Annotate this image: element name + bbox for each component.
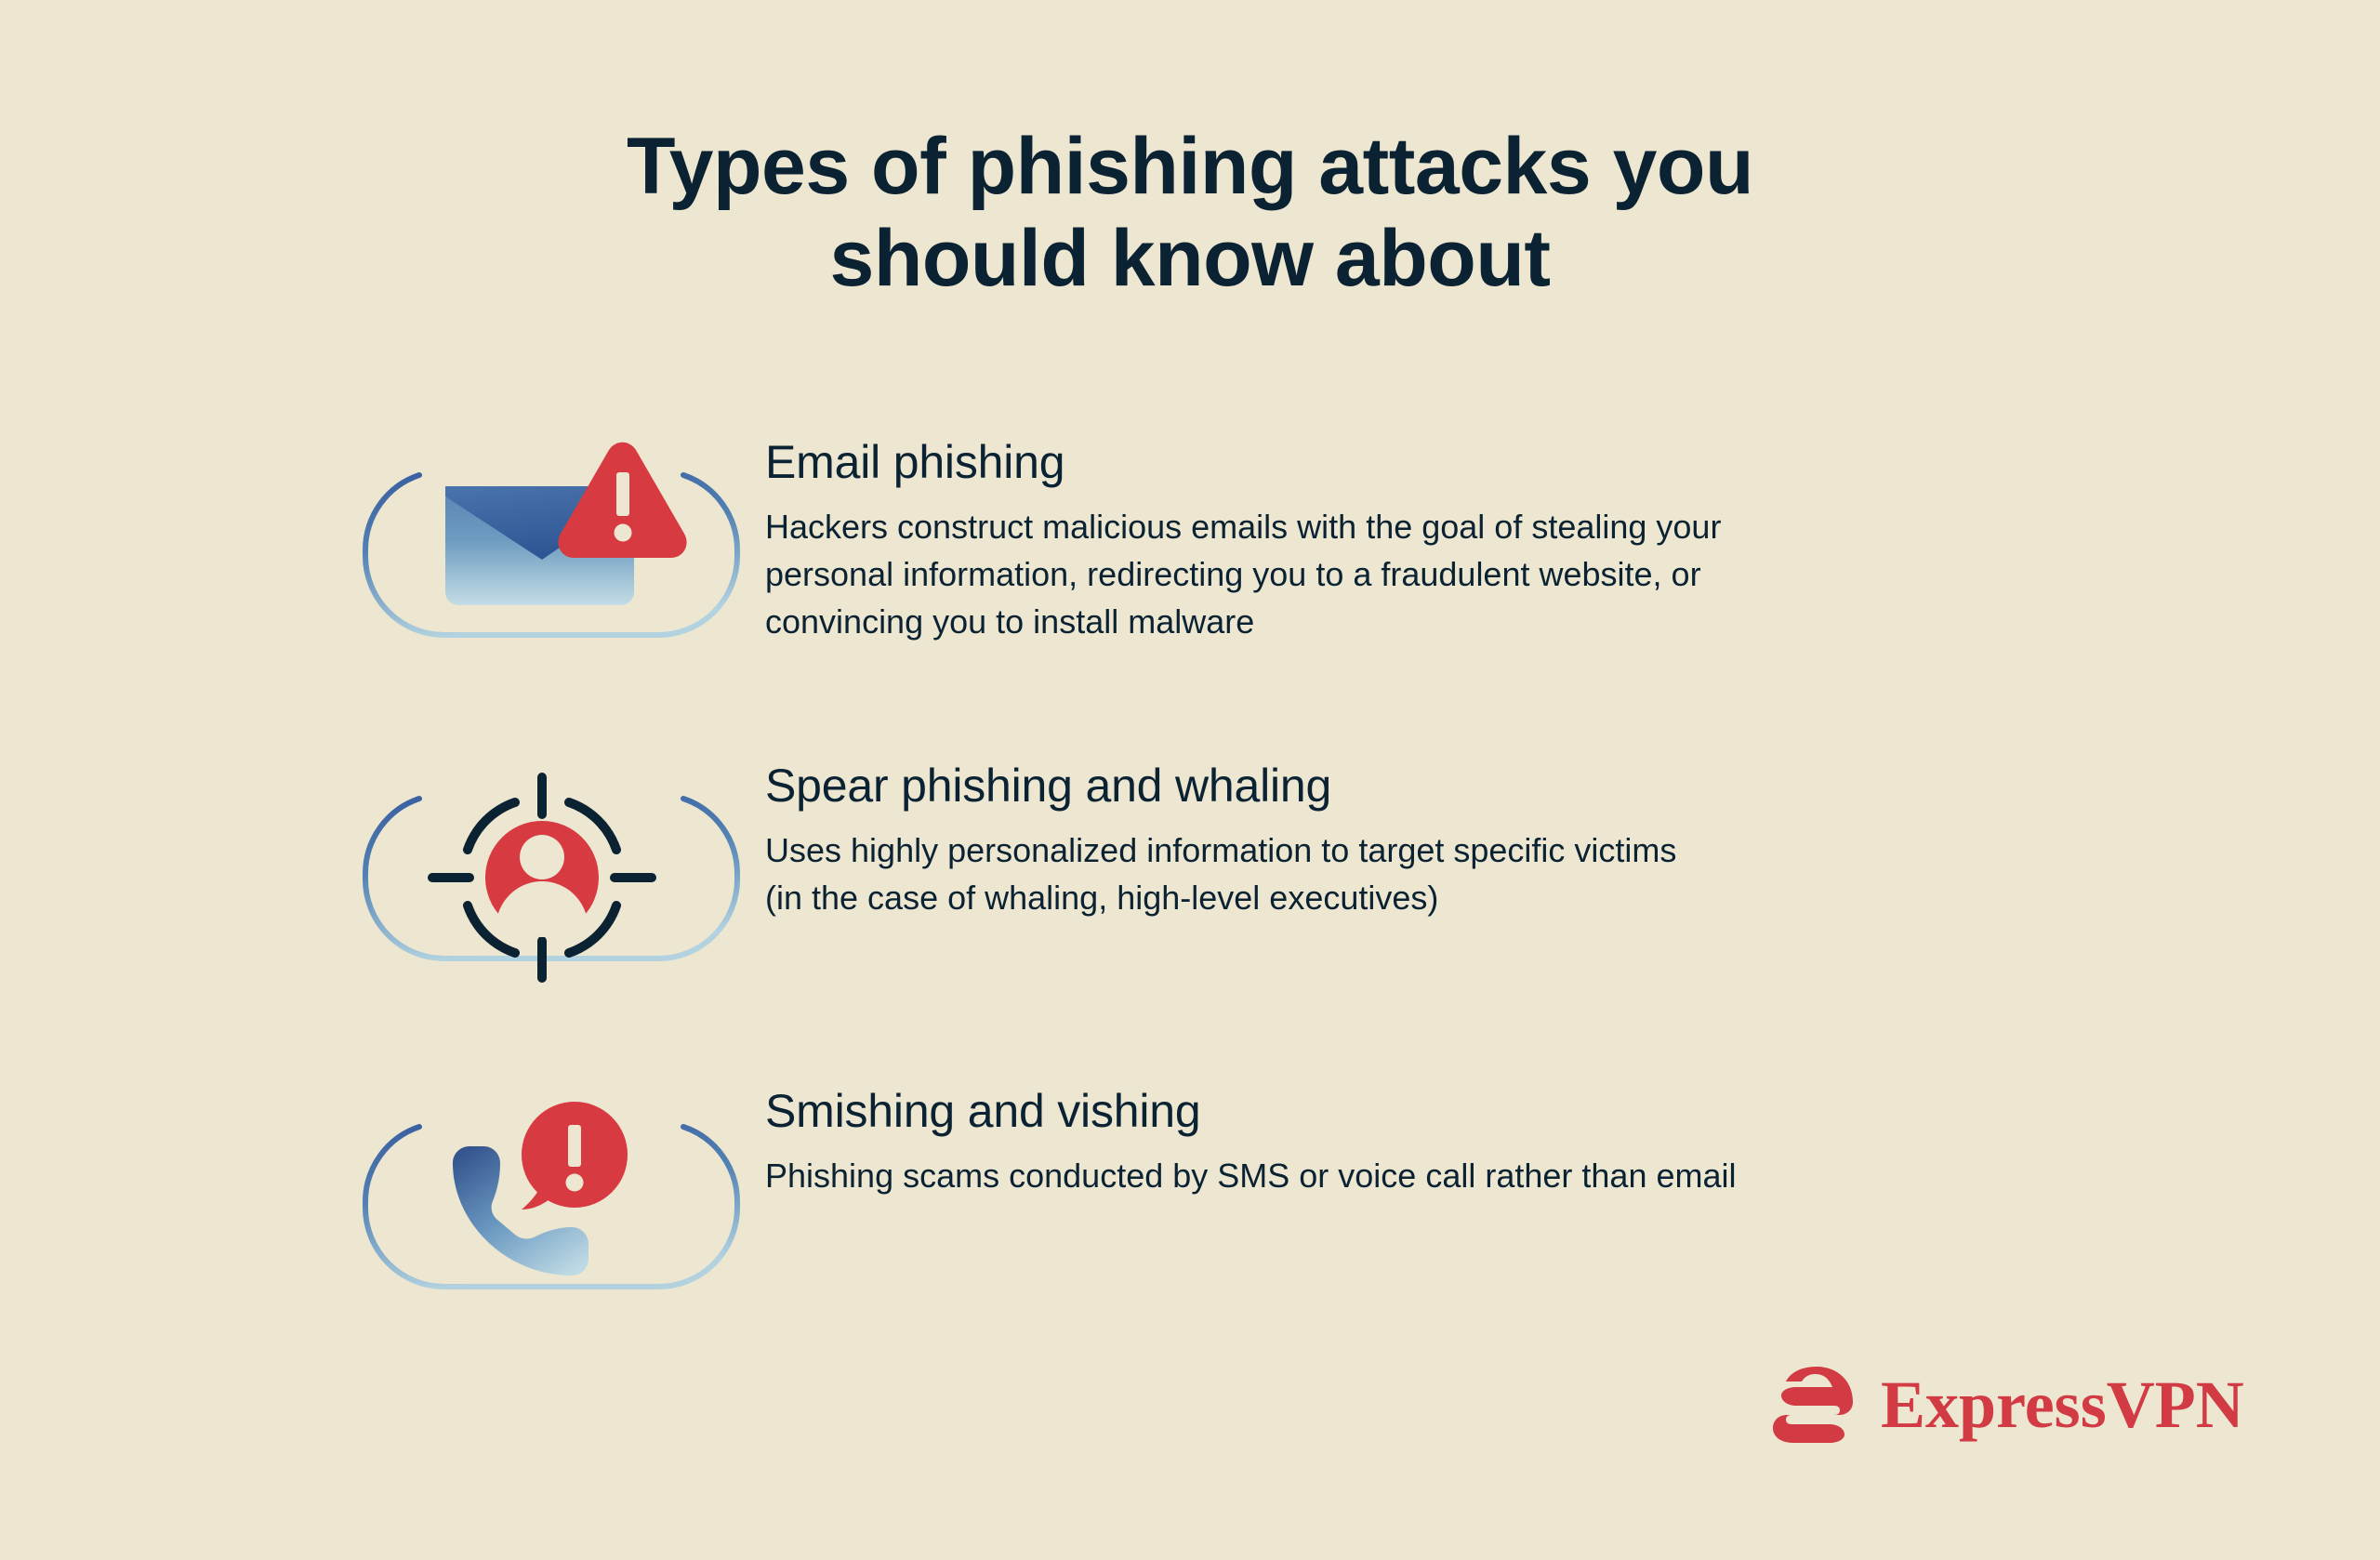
expressvpn-wordmark: ExpressVPN <box>1881 1371 2244 1438</box>
list-item: Smishing and vishing Phishing scams cond… <box>0 1086 2380 1323</box>
email-warning-icon <box>356 437 765 669</box>
item-text-block: Spear phishing and whaling Uses highly p… <box>765 760 2380 921</box>
target-person-icon <box>356 760 765 993</box>
item-heading: Spear phishing and whaling <box>765 760 2380 812</box>
list-item: Spear phishing and whaling Uses highly p… <box>0 760 2380 993</box>
item-text-block: Smishing and vishing Phishing scams cond… <box>765 1086 2380 1199</box>
target-person-icon-svg <box>356 760 747 993</box>
item-heading: Smishing and vishing <box>765 1086 2380 1137</box>
exclamation-dot <box>566 1174 584 1192</box>
person-head <box>520 835 564 879</box>
email-warning-icon-svg <box>356 437 747 669</box>
infographic-canvas: Types of phishing attacks you should kno… <box>0 0 2380 1560</box>
exclamation-dot <box>615 524 632 542</box>
expressvpn-logo[interactable]: ExpressVPN <box>1771 1365 2244 1445</box>
page-title-line-1: Types of phishing attacks you <box>0 121 2380 213</box>
item-body: Hackers construct malicious emails with … <box>765 503 2011 645</box>
list-item: Email phishing Hackers construct malicio… <box>0 437 2380 669</box>
exclamation-bar <box>616 472 629 516</box>
phone-warning-icon-svg <box>356 1086 747 1323</box>
page-title-line-2: should know about <box>0 213 2380 305</box>
expressvpn-e-mark-icon <box>1771 1365 1857 1445</box>
page-title: Types of phishing attacks you should kno… <box>0 121 2380 305</box>
item-body: Uses highly personalized information to … <box>765 826 2011 921</box>
item-heading: Email phishing <box>765 437 2380 488</box>
item-text-block: Email phishing Hackers construct malicio… <box>765 437 2380 645</box>
exclamation-bar <box>568 1125 581 1167</box>
item-body: Phishing scams conducted by SMS or voice… <box>765 1152 2011 1199</box>
phone-warning-icon <box>356 1086 765 1323</box>
